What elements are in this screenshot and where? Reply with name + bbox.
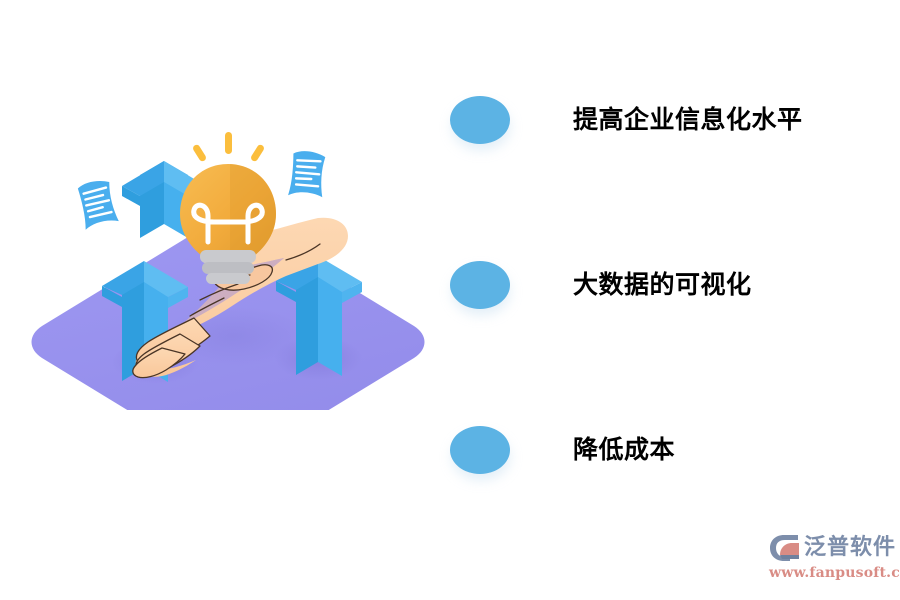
brand-url: www.fanpusoft.com — [769, 565, 896, 581]
list-item[interactable]: 降低成本 — [440, 420, 860, 480]
hand-holding-lightbulb-illustration — [18, 130, 438, 410]
bullet-dot-container — [440, 90, 520, 150]
list-item-label: 降低成本 — [520, 436, 860, 464]
list-item[interactable]: 提高企业信息化水平 — [440, 90, 860, 150]
bullet-dot-icon — [450, 96, 510, 144]
list-item-label: 提高企业信息化水平 — [520, 106, 860, 134]
brand-lockup: 泛普软件 — [768, 530, 896, 566]
bullet-dot-icon — [450, 261, 510, 309]
document-scrap-left-icon — [77, 179, 119, 230]
benefits-list: 提高企业信息化水平 大数据的可视化 降低成本 — [440, 90, 860, 510]
list-item-label: 大数据的可视化 — [520, 271, 860, 299]
bullet-dot-container — [440, 255, 520, 315]
bullet-dot-icon — [450, 426, 510, 474]
bullet-dot-container — [440, 420, 520, 480]
brand-watermark: 泛普软件 www.fanpusoft.com — [768, 530, 896, 590]
bulb-base — [200, 250, 256, 284]
fanpu-logo-icon — [768, 533, 802, 563]
document-scrap-right-icon — [286, 149, 330, 201]
lightbulb-sparks — [192, 132, 265, 162]
slide-canvas: 提高企业信息化水平 大数据的可视化 降低成本 — [0, 0, 900, 600]
list-item[interactable]: 大数据的可视化 — [440, 255, 860, 315]
brand-name: 泛普软件 — [804, 533, 896, 563]
